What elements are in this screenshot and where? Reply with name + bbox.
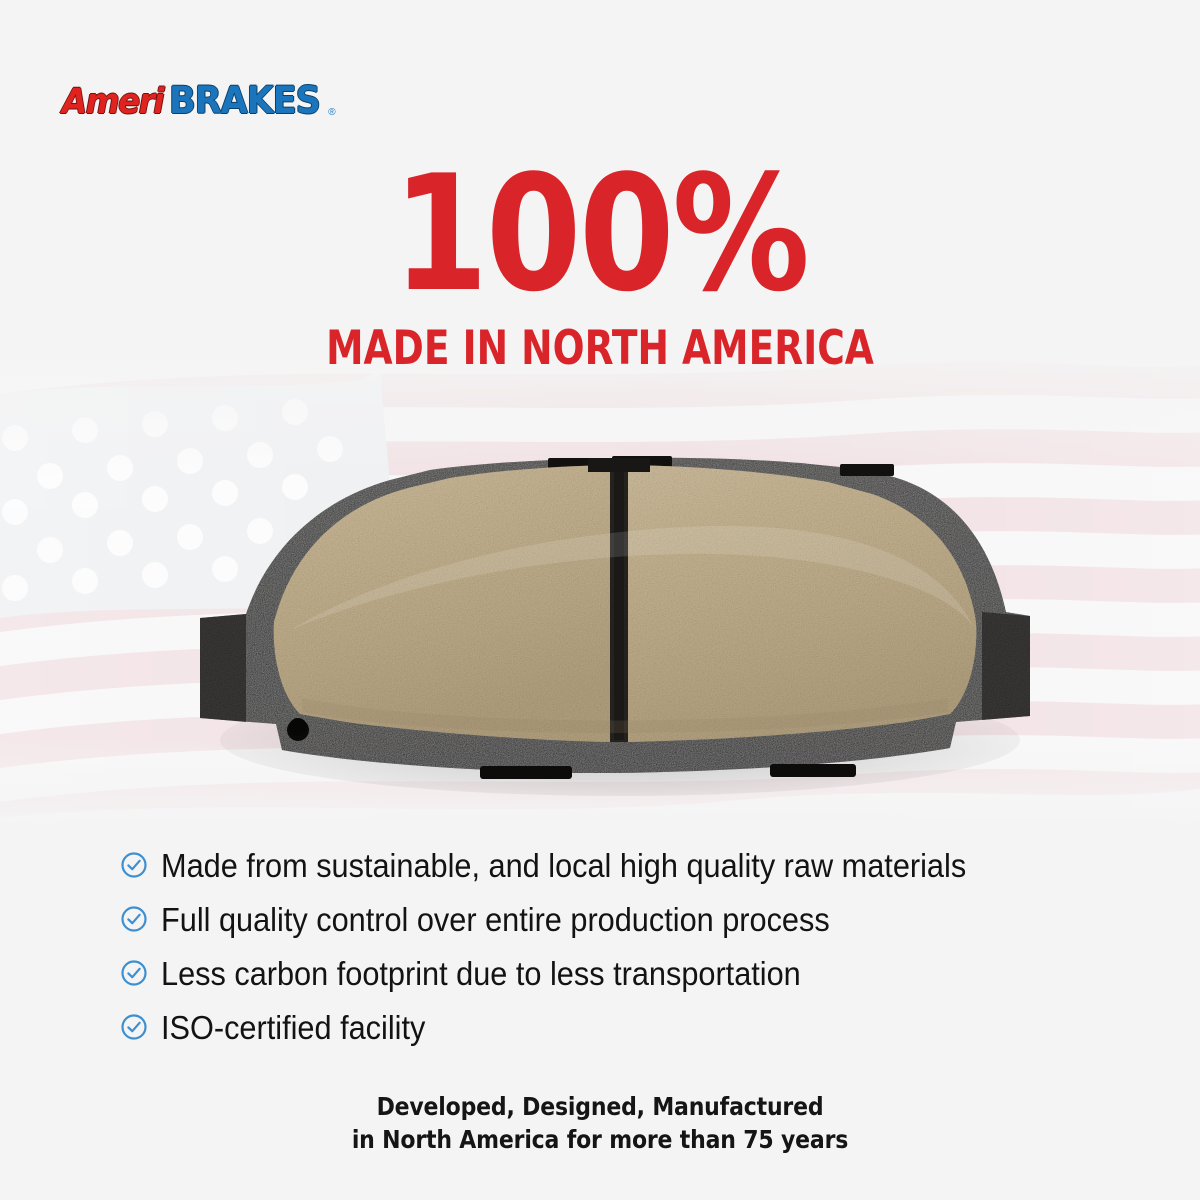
footer-line-1: Developed, Designed, Manufactured <box>72 1090 1128 1123</box>
list-item: Full quality control over entire product… <box>120 892 1120 946</box>
feature-list: Made from sustainable, and local high qu… <box>120 838 1120 1054</box>
ameribrakes-logo[interactable]: Ameri BRAKES ® <box>62 82 336 120</box>
circled-check-icon <box>120 1013 148 1041</box>
product-marketing-banner: Ameri BRAKES ® 100% MADE IN NORTH AMERIC… <box>0 0 1200 1200</box>
footer-line-2: in North America for more than 75 years <box>72 1123 1128 1156</box>
headline-percent: 100% <box>84 160 1116 307</box>
logo-text-ameri: Ameri <box>62 85 163 120</box>
registered-trademark-icon: ® <box>328 108 335 120</box>
list-item: Made from sustainable, and local high qu… <box>120 838 1120 892</box>
feature-label: Less carbon footprint due to less transp… <box>161 957 801 990</box>
circled-check-icon <box>120 905 148 933</box>
logo-text-brakes: BRAKES <box>169 82 320 119</box>
list-item: Less carbon footprint due to less transp… <box>120 946 1120 1000</box>
circled-check-icon <box>120 959 148 987</box>
circled-check-icon <box>120 851 148 879</box>
feature-label: Made from sustainable, and local high qu… <box>161 849 966 882</box>
footer-tagline: Developed, Designed, Manufactured in Nor… <box>0 1090 1200 1157</box>
feature-label: ISO-certified facility <box>161 1011 425 1044</box>
list-item: ISO-certified facility <box>120 1000 1120 1054</box>
ceramic-brake-pad-image <box>150 440 1070 800</box>
headline-block: 100% MADE IN NORTH AMERICA <box>0 160 1200 372</box>
feature-label: Full quality control over entire product… <box>161 903 830 936</box>
headline-subtitle: MADE IN NORTH AMERICA <box>120 325 1080 372</box>
